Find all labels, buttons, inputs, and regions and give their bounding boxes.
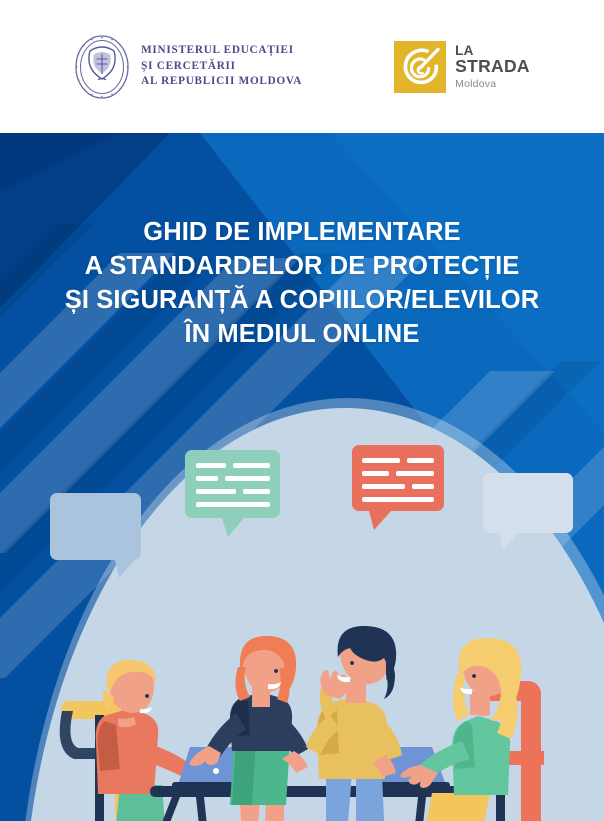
la-strada-line-3: Moldova — [455, 79, 530, 90]
title-line-3: ȘI SIGURANȚĂ A COPIILOR/ELEVILOR — [0, 284, 604, 318]
table — [150, 786, 474, 821]
title-line-2: A STANDARDELOR DE PROTECȚIE — [0, 250, 604, 284]
bubble-red — [352, 445, 444, 530]
page-title: GHID DE IMPLEMENTARE A STANDARDELOR DE P… — [0, 216, 604, 352]
cover-page: MINISTERUL EDUCAȚIEI ȘI CERCETĂRII AL RE… — [0, 0, 604, 821]
la-strada-line-2: STRADA — [455, 58, 530, 76]
ministry-line-1: MINISTERUL EDUCAȚIEI — [141, 43, 302, 59]
ministry-line-3: AL REPUBLICII MOLDOVA — [141, 74, 302, 90]
title-line-1: GHID DE IMPLEMENTARE — [0, 216, 604, 250]
la-strada-spiral-icon — [394, 41, 446, 93]
cover-body: GHID DE IMPLEMENTARE A STANDARDELOR DE P… — [0, 133, 604, 821]
la-strada-wordmark: LA STRADA Moldova — [455, 44, 530, 90]
title-line-4: ÎN MEDIUL ONLINE — [0, 318, 604, 352]
moldova-coat-of-arms-icon — [74, 35, 130, 99]
la-strada-logo: LA STRADA Moldova — [394, 41, 530, 93]
ministry-logo: MINISTERUL EDUCAȚIEI ȘI CERCETĂRII AL RE… — [74, 35, 302, 99]
bubble-green — [185, 450, 280, 537]
ministry-line-2: ȘI CERCETĂRII — [141, 59, 302, 75]
logo-header: MINISTERUL EDUCAȚIEI ȘI CERCETĂRII AL RE… — [0, 0, 604, 133]
ministry-name: MINISTERUL EDUCAȚIEI ȘI CERCETĂRII AL RE… — [141, 43, 302, 91]
bubble-blue-left — [50, 493, 141, 578]
bubble-blue-right — [483, 473, 573, 550]
la-strada-line-1: LA — [455, 44, 530, 58]
